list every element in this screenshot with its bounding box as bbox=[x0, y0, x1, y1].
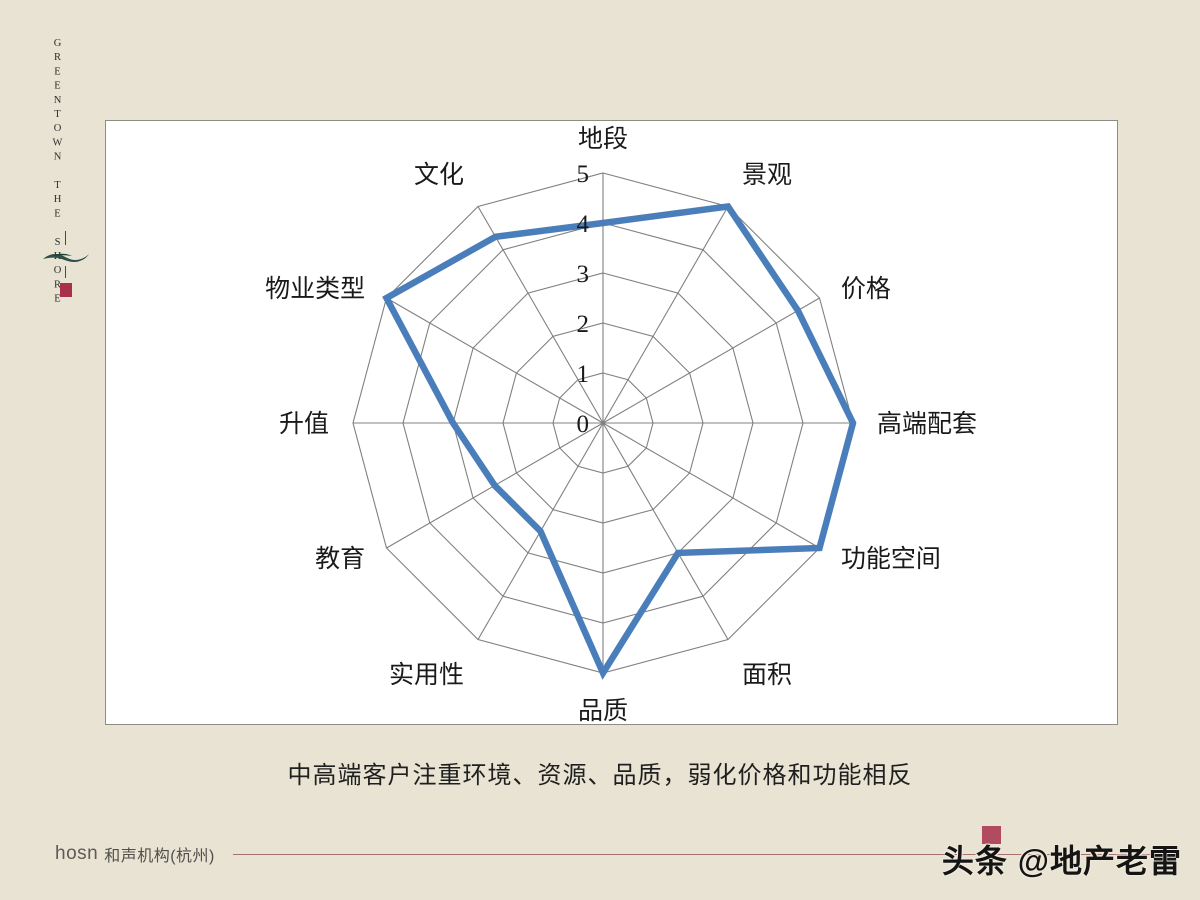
brand-rail: GREENTOWN THE SHORE bbox=[40, 38, 94, 278]
hosn-logo-text: 和声机构(杭州) bbox=[104, 842, 215, 866]
radial-tick-1: 1 bbox=[577, 361, 590, 388]
brand-divider-top bbox=[65, 231, 66, 245]
axis-label-0: 地段 bbox=[578, 125, 628, 153]
brand-vertical-title: GREENTOWN THE SHORE bbox=[52, 38, 63, 308]
chart-caption: 中高端客户注重环境、资源、品质，弱化价格和功能相反 bbox=[0, 755, 1200, 790]
radar-chart-card: 012345 地段景观价格高端配套功能空间面积品质实用性教育升值物业类型文化 bbox=[105, 120, 1118, 725]
grid-spoke-4 bbox=[603, 423, 820, 548]
ink-brush-mark-icon bbox=[42, 250, 90, 262]
radial-tick-2: 2 bbox=[577, 311, 590, 338]
radar-data-series bbox=[386, 206, 853, 673]
radar-chart: 012345 地段景观价格高端配套功能空间面积品质实用性教育升值物业类型文化 bbox=[106, 121, 1119, 724]
radial-tick-5: 5 bbox=[577, 161, 590, 188]
axis-label-10: 物业类型 bbox=[265, 275, 365, 303]
radial-tick-4: 4 bbox=[577, 211, 590, 238]
axis-label-1: 景观 bbox=[742, 162, 792, 189]
axis-label-4: 功能空间 bbox=[841, 545, 941, 573]
axis-label-7: 实用性 bbox=[389, 661, 464, 689]
axis-label-3: 高端配套 bbox=[877, 410, 977, 438]
radar-axis-labels: 地段景观价格高端配套功能空间面积品质实用性教育升值物业类型文化 bbox=[265, 125, 977, 724]
hosn-logo-mark: hosn bbox=[55, 843, 98, 865]
red-seal-icon bbox=[60, 283, 72, 297]
radial-tick-3: 3 bbox=[577, 261, 590, 288]
axis-label-5: 面积 bbox=[742, 661, 792, 689]
radial-tick-0: 0 bbox=[577, 411, 590, 438]
axis-label-2: 价格 bbox=[841, 275, 891, 303]
data-polygon-0 bbox=[386, 206, 853, 673]
brand-divider-bottom bbox=[65, 266, 66, 278]
grid-spoke-1 bbox=[603, 206, 728, 423]
grid-spoke-5 bbox=[603, 423, 728, 640]
grid-spoke-2 bbox=[603, 298, 820, 423]
watermark-text: 头条 @地产老雷 bbox=[942, 836, 1182, 882]
axis-label-6: 品质 bbox=[578, 697, 628, 724]
axis-label-11: 文化 bbox=[414, 161, 464, 189]
axis-label-8: 教育 bbox=[315, 545, 365, 573]
radar-grid-spokes bbox=[353, 173, 853, 673]
axis-label-9: 升值 bbox=[279, 410, 329, 438]
